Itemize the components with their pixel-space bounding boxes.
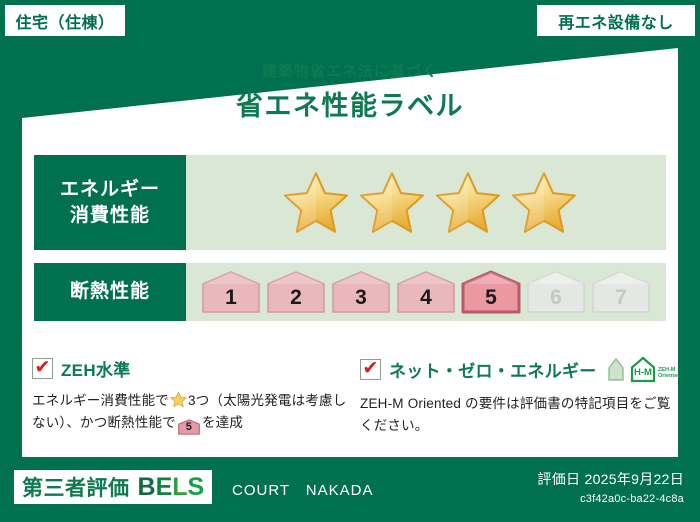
energy-performance-rating	[186, 155, 666, 250]
net-zero-energy-block: ✔ ネット・ゼロ・エネルギー H-M ZEH-M Oriented ZEH-M …	[360, 354, 672, 437]
energy-performance-label-line2: 消費性能	[70, 203, 150, 229]
grade-number: 6	[550, 287, 562, 314]
page-title: 省エネ性能ラベル	[0, 84, 700, 123]
inline-grade-number: 5	[178, 418, 200, 436]
grade-badge: 1	[200, 270, 262, 314]
check-icon: ✔	[363, 359, 379, 378]
energy-performance-label: エネルギー 消費性能	[34, 155, 186, 250]
grade-number: 3	[355, 287, 367, 314]
star-icon	[358, 170, 426, 235]
net-zero-energy-description: ZEH-M Oriented の要件は評価書の特記項目をご覧ください。	[360, 393, 672, 437]
badge-renewable-equipment: 再エネ設備なし	[536, 4, 696, 37]
title-subtitle: 建築物省エネ法に基づく	[0, 60, 700, 81]
third-party-evaluation-label: 第三者評価	[22, 472, 130, 502]
footer-meta: 評価日 2025年9月22日 c3f42a0c-ba22-4c8a	[537, 469, 684, 505]
grade-number: 2	[290, 287, 302, 314]
zeh-m-oriented-logo: H-M ZEH-M Oriented	[605, 354, 679, 384]
grade-badge: 3	[330, 270, 392, 314]
grade-number: 1	[225, 287, 237, 314]
zeh-standard-desc-part1: エネルギー消費性能で	[32, 393, 169, 408]
badge-dwelling-type: 住宅（住棟）	[4, 4, 126, 37]
bels-letter-e: E	[156, 473, 173, 501]
grade-badge: 2	[265, 270, 327, 314]
badge-dwelling-type-label: 住宅（住棟）	[15, 9, 114, 33]
zeh-standard-checkbox[interactable]: ✔	[32, 358, 53, 379]
insulation-performance-label: 断熱性能	[34, 263, 186, 321]
insulation-performance-label-text: 断熱性能	[70, 279, 150, 305]
insulation-performance-rating: 1234567	[186, 263, 666, 321]
bels-logo: BELS	[138, 473, 205, 502]
star-rating	[274, 170, 578, 235]
zeh-standard-description: エネルギー消費性能で 3つ（太陽光発電は考慮しない）、かつ断熱性能で 5 を達成	[32, 390, 352, 434]
energy-performance-label: 住宅（住棟） 再エネ設備なし 建築物省エネ法に基づく 省エネ性能ラベル エネルギ…	[0, 0, 700, 522]
certificate-id: c3f42a0c-ba22-4c8a	[537, 493, 684, 505]
bels-certification-mark: 第三者評価 BELS	[14, 470, 212, 504]
grade-number: 5	[485, 287, 497, 314]
zeh-m-logo-caption-2: Oriented	[658, 373, 679, 379]
energy-performance-label-line1: エネルギー	[60, 177, 160, 203]
net-zero-energy-title: ネット・ゼロ・エネルギー	[389, 357, 597, 382]
badge-renewable-equipment-label: 再エネ設備なし	[558, 9, 674, 33]
star-icon	[170, 391, 187, 408]
grade-number: 4	[420, 287, 432, 314]
net-zero-energy-checkbox[interactable]: ✔	[360, 359, 381, 380]
building-name: COURT NAKADA	[232, 479, 373, 500]
inline-grade-badge: 5	[178, 418, 200, 434]
grade-badge: 5	[460, 270, 522, 314]
star-icon	[434, 170, 502, 235]
grade-badge: 6	[525, 270, 587, 314]
zeh-standard-desc-part3: を達成	[202, 415, 243, 430]
evaluation-date: 評価日 2025年9月22日	[537, 469, 684, 489]
net-zero-energy-header: ✔ ネット・ゼロ・エネルギー H-M ZEH-M Oriented	[360, 354, 672, 384]
bels-letter-l: L	[172, 473, 187, 501]
energy-performance-row: エネルギー 消費性能	[34, 155, 666, 250]
bels-letter-s: S	[188, 473, 205, 501]
grade-number: 7	[615, 287, 627, 314]
insulation-performance-row: 断熱性能 1234567	[34, 263, 666, 321]
title-block: 建築物省エネ法に基づく 省エネ性能ラベル	[0, 60, 700, 123]
grade-badge: 7	[590, 270, 652, 314]
zeh-standard-title: ZEH水準	[61, 356, 131, 381]
zeh-standard-block: ✔ ZEH水準 エネルギー消費性能で 3つ（太陽光発電は考慮しない）、かつ断熱性…	[32, 356, 352, 434]
grade-badge: 4	[395, 270, 457, 314]
zeh-standard-header: ✔ ZEH水準	[32, 356, 352, 381]
star-icon	[510, 170, 578, 235]
footer: 第三者評価 BELS COURT NAKADA 評価日 2025年9月22日 c…	[0, 460, 700, 522]
bels-letter-b: B	[138, 473, 156, 501]
star-icon	[282, 170, 350, 235]
check-icon: ✔	[35, 358, 51, 377]
zeh-m-logo-text: H-M	[634, 367, 652, 378]
grade-scale: 1234567	[200, 270, 652, 314]
